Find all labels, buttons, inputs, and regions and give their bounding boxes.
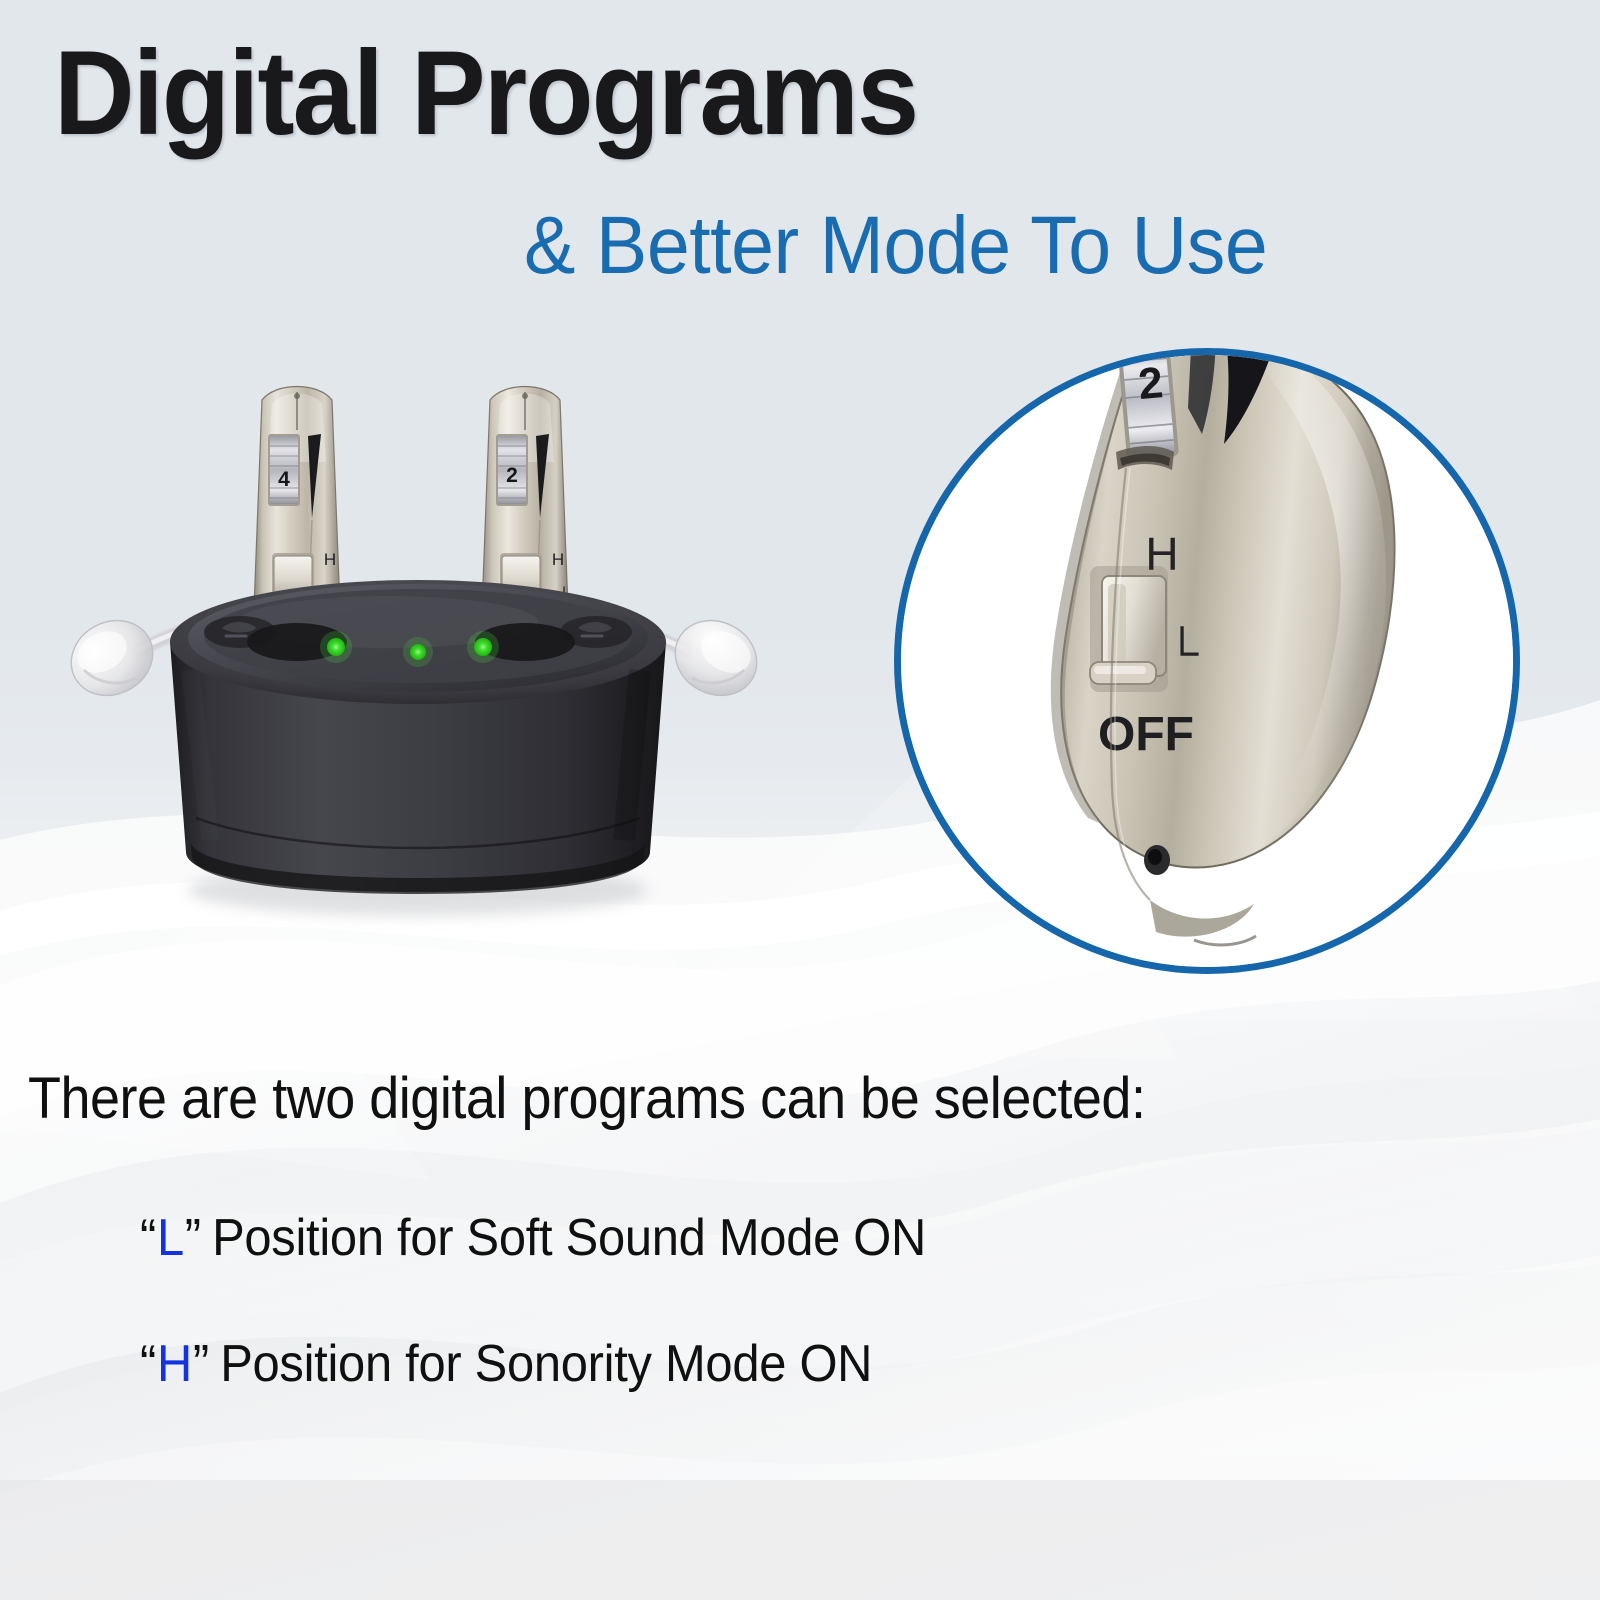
bullet-text-high: Position for Sonority Mode ON (220, 1335, 872, 1393)
page-title: Digital Programs (54, 33, 917, 153)
infographic-page: Digital Programs & Better Mode To Use (0, 0, 1600, 1600)
charging-dock (170, 580, 666, 916)
inset-microphone-port (1144, 845, 1170, 875)
inset-program-switch-knob (1090, 576, 1166, 684)
detail-inset-circle: 2 H └ OFF (894, 348, 1520, 974)
quote-open-high: “ (140, 1335, 156, 1393)
product-photo-charger-with-hearing-aids: 4 H └ OFF (40, 370, 780, 930)
right-aid-volume-wheel-value: 2 (506, 464, 518, 487)
left-aid-volume-wheel-value: 4 (278, 468, 290, 491)
bullet-text-low: Position for Soft Sound Mode ON (212, 1209, 926, 1267)
quote-close-low: ” (185, 1209, 201, 1267)
right-aid-switch-label-high: H (552, 550, 564, 569)
quote-open-low: “ (140, 1209, 156, 1267)
inset-volume-wheel-value: 2 (1136, 358, 1165, 409)
quote-close-high: ” (193, 1335, 209, 1393)
lead-paragraph: There are two digital programs can be se… (28, 1070, 1145, 1128)
left-aid-switch-label-high: H (324, 550, 336, 569)
bullet-item-high: “H”Position for Sonority Mode ON (140, 1338, 872, 1390)
inset-switch-label-low: └ (1166, 626, 1199, 678)
detail-inset-photo: 2 H └ OFF (894, 348, 1520, 974)
bullet-item-low: “L”Position for Soft Sound Mode ON (140, 1212, 926, 1264)
key-letter-high: H (156, 1335, 193, 1393)
inset-switch-label-high: H (1145, 528, 1178, 580)
inset-volume-wheel: 2 (1117, 348, 1179, 460)
page-subtitle: & Better Mode To Use (524, 205, 1267, 287)
inset-switch-label-off: OFF (1098, 708, 1194, 761)
key-letter-low: L (156, 1209, 185, 1267)
